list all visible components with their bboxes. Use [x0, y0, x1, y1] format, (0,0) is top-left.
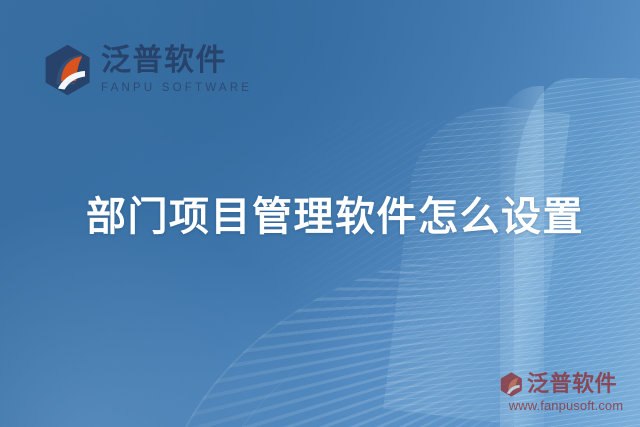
- watermark-logo-row: 泛普软件: [500, 372, 632, 397]
- brand-name-en: FANPU SOFTWARE: [101, 81, 252, 95]
- brand-wordmark: 泛普软件 FANPU SOFTWARE: [101, 46, 252, 95]
- watermark-url: www.fanpusoft.com: [500, 398, 632, 413]
- fanpu-hexagon-logo-icon: [500, 372, 523, 397]
- watermark-name-cn: 泛普软件: [527, 373, 617, 397]
- headline-title: 部门项目管理软件怎么设置: [86, 192, 584, 242]
- brand-name-cn: 泛普软件: [101, 46, 252, 76]
- brand-logo: 泛普软件 FANPU SOFTWARE: [44, 44, 252, 96]
- watermark: 泛普软件 www.fanpusoft.com: [500, 372, 632, 413]
- fanpu-hexagon-logo-icon: [44, 44, 92, 96]
- promo-banner: 泛普软件 FANPU SOFTWARE 部门项目管理软件怎么设置 泛普软件 ww…: [0, 0, 640, 427]
